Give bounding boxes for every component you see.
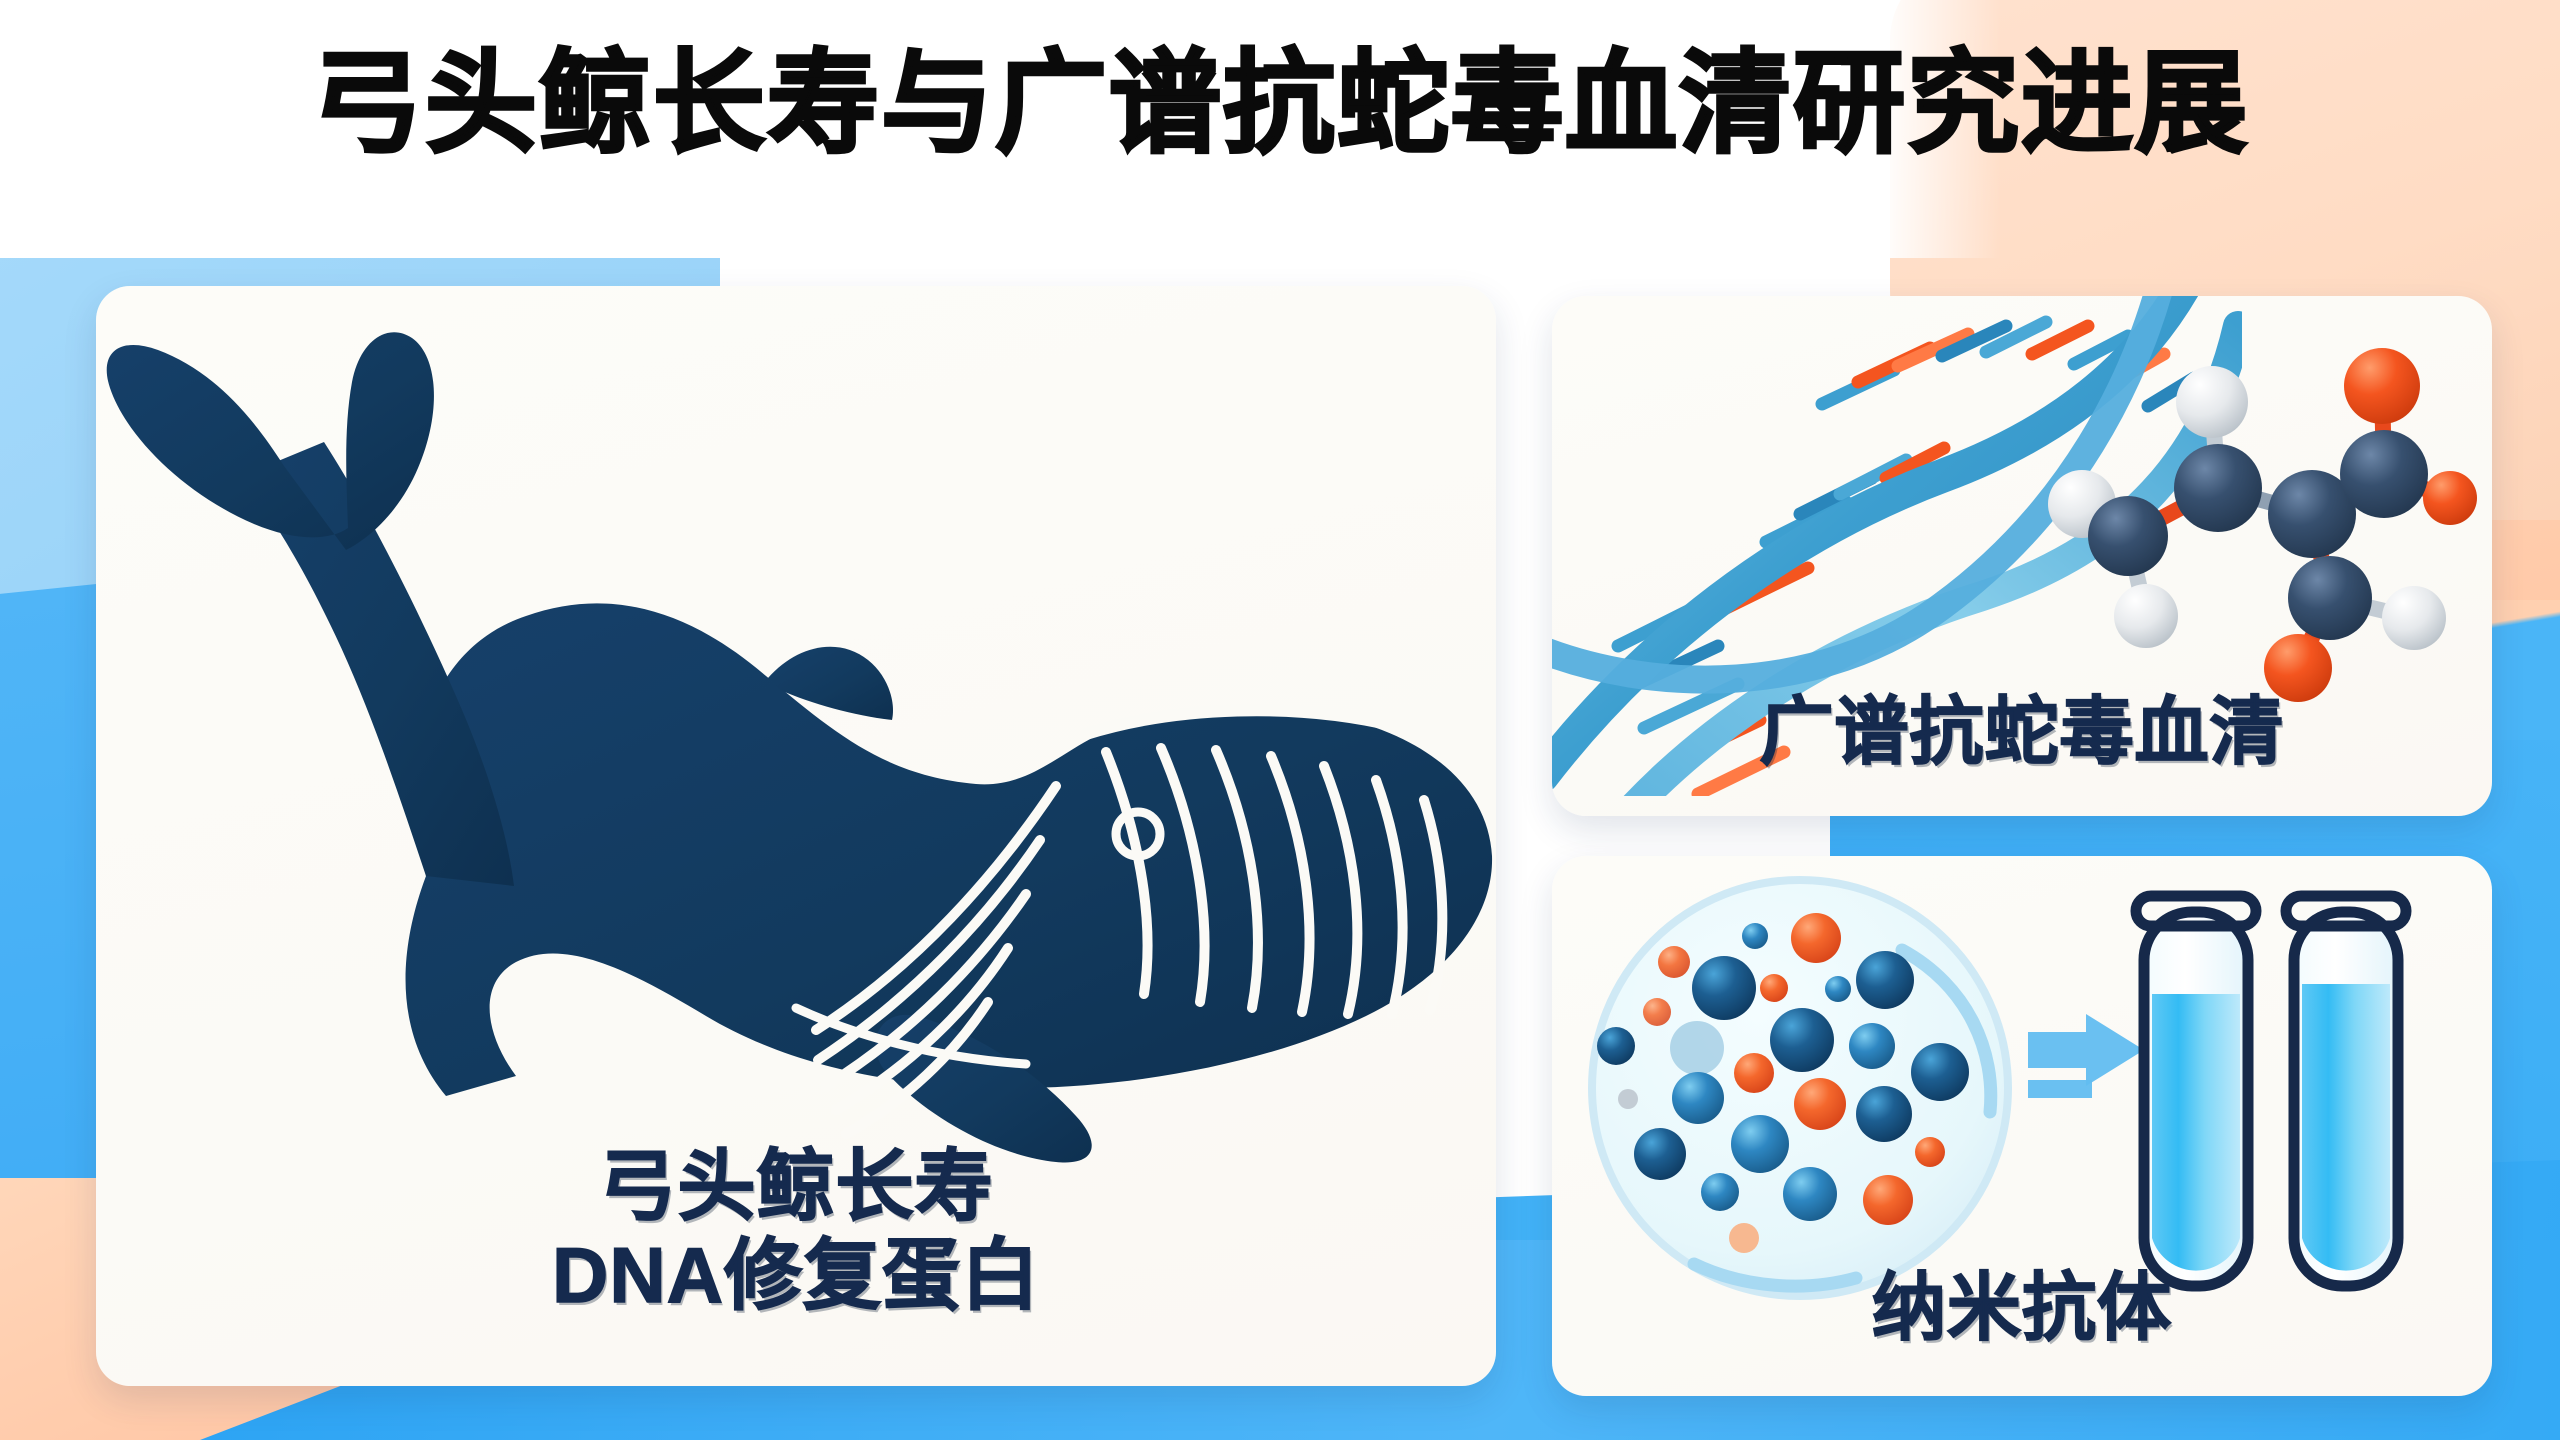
poster-root: 弓头鲸长寿与广谱抗蛇毒血清研究进展 [0, 0, 2560, 1440]
oxygen-atom [2423, 471, 2477, 525]
caption-line-2: DNA修复蛋白 [96, 1231, 1496, 1320]
page-title: 弓头鲸长寿与广谱抗蛇毒血清研究进展 [0, 36, 2560, 173]
bowhead-whale-illustration [96, 316, 1496, 1176]
card-antivenom-caption: 广谱抗蛇毒血清 [1552, 690, 2492, 774]
test-tubes-icon [2122, 876, 2452, 1306]
carbon-atom [2288, 556, 2372, 640]
caption-line-1: 广谱抗蛇毒血清 [1552, 690, 2492, 774]
carbon-atom [2340, 430, 2428, 518]
carbon-atom [2088, 496, 2168, 576]
caption-line-1: 纳米抗体 [1552, 1266, 2492, 1350]
whale-tail-fluke [107, 332, 434, 550]
card-nanobody-caption: 纳米抗体 [1552, 1266, 2492, 1350]
molecule-ball-and-stick-icon [2022, 326, 2492, 746]
card-nanobody[interactable]: 纳米抗体 [1552, 856, 2492, 1396]
molecule-atoms [2048, 348, 2477, 702]
test-tube-2 [2286, 896, 2406, 1286]
card-broad-antivenom[interactable]: 广谱抗蛇毒血清 [1552, 296, 2492, 816]
card-whale-longevity[interactable]: 弓头鲸长寿 DNA修复蛋白 [96, 286, 1496, 1386]
petri-dish-icon [1572, 876, 2072, 1306]
hydrogen-atom [2114, 584, 2178, 648]
hydrogen-atom [2382, 586, 2446, 650]
oxygen-atom [2344, 348, 2420, 424]
caption-line-1: 弓头鲸长寿 [96, 1142, 1496, 1231]
hydrogen-atom [2176, 366, 2248, 438]
arrow-lower [2028, 1080, 2092, 1098]
carbon-atom [2174, 444, 2262, 532]
test-tube-1 [2136, 896, 2256, 1286]
card-whale-caption: 弓头鲸长寿 DNA修复蛋白 [96, 1142, 1496, 1320]
